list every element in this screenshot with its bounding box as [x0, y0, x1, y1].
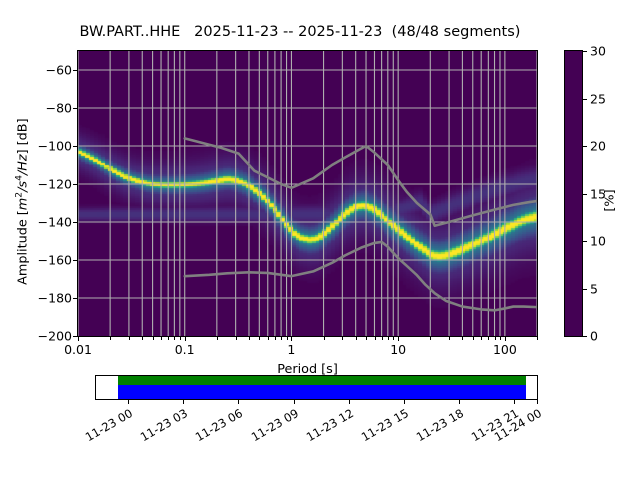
- timeline-tick-mark: [404, 400, 405, 404]
- colorbar-tick-mark: [583, 241, 587, 242]
- timeline-tick-label: 11-23 15: [352, 406, 411, 448]
- y-tick-label: −60: [12, 63, 72, 78]
- x-tick-mark: [161, 337, 162, 340]
- x-tick-mark: [180, 337, 181, 340]
- colorbar-tick-label: 5: [590, 281, 598, 296]
- x-tick-mark: [287, 337, 288, 340]
- x-tick-label: 1: [256, 342, 326, 357]
- x-tick-mark: [174, 337, 175, 340]
- colorbar-tick-label: 20: [590, 139, 606, 154]
- timeline-tick-mark: [294, 400, 295, 404]
- timeline-tick-label: 11-23 09: [242, 406, 301, 448]
- colorbar-tick-mark: [583, 99, 587, 100]
- x-tick-mark: [505, 337, 506, 341]
- colorbar-label: [%]: [603, 161, 618, 241]
- x-tick-mark: [217, 337, 218, 340]
- x-tick-label: 0.01: [43, 342, 113, 357]
- x-tick-mark: [275, 337, 276, 340]
- colorbar-tick-mark: [583, 194, 587, 195]
- x-tick-mark: [366, 337, 367, 340]
- timeline-tick-mark: [128, 400, 129, 404]
- x-tick-mark: [430, 337, 431, 340]
- x-tick-mark: [388, 337, 389, 340]
- ppsd-plot-area: [77, 50, 538, 337]
- timeline-tick-mark: [537, 400, 538, 404]
- x-tick-mark: [281, 337, 282, 340]
- x-tick-label: 100: [470, 342, 540, 357]
- x-tick-mark: [537, 337, 538, 340]
- colorbar-gradient: [565, 51, 582, 336]
- y-tick-mark: [73, 146, 77, 147]
- x-tick-mark: [500, 337, 501, 340]
- x-tick-mark: [356, 337, 357, 340]
- page-title: BW.PART..HHE 2025-11-23 -- 2025-11-23 (4…: [0, 24, 600, 40]
- y-tick-mark: [73, 336, 77, 337]
- ppsd-figure: BW.PART..HHE 2025-11-23 -- 2025-11-23 (4…: [0, 0, 640, 480]
- x-tick-mark: [259, 337, 260, 340]
- timeline-tick-mark: [238, 400, 239, 404]
- x-tick-mark: [488, 337, 489, 340]
- x-tick-mark: [249, 337, 250, 340]
- x-tick-mark: [473, 337, 474, 340]
- x-tick-mark: [236, 337, 237, 340]
- colorbar-tick-label: 25: [590, 91, 606, 106]
- timeline-tick-label: 11-23 18: [407, 406, 466, 448]
- timeline-tick-label: 11-23 06: [186, 406, 245, 448]
- y-axis-label: Amplitude [m2/s4/Hz] [dB]: [13, 92, 30, 312]
- data-coverage-bar: [118, 376, 526, 385]
- y-tick-mark: [73, 184, 77, 185]
- timeline-tick-mark: [514, 400, 515, 404]
- x-tick-mark: [291, 337, 292, 341]
- x-tick-mark: [110, 337, 111, 340]
- x-tick-mark: [324, 337, 325, 340]
- noise-model-curves: [78, 51, 537, 336]
- colorbar-tick-mark: [583, 336, 587, 337]
- x-tick-mark: [375, 337, 376, 340]
- x-tick-label: 10: [363, 342, 433, 357]
- timeline-tick-label: 11-23 12: [297, 406, 356, 448]
- y-tick-mark: [73, 222, 77, 223]
- x-tick-mark: [142, 337, 143, 340]
- timeline-tick-mark: [459, 400, 460, 404]
- x-tick-mark: [342, 337, 343, 340]
- x-tick-mark: [481, 337, 482, 340]
- timeline-tick-label: 11-23 03: [131, 406, 190, 448]
- x-tick-mark: [78, 337, 79, 341]
- timeline-tick-mark: [349, 400, 350, 404]
- y-tick-mark: [73, 298, 77, 299]
- x-tick-mark: [449, 337, 450, 340]
- x-tick-mark: [382, 337, 383, 340]
- x-tick-mark: [185, 337, 186, 341]
- colorbar-tick-mark: [583, 146, 587, 147]
- x-tick-mark: [462, 337, 463, 340]
- x-tick-mark: [268, 337, 269, 340]
- timeline-tick-mark: [183, 400, 184, 404]
- colorbar-tick-label: 0: [590, 329, 598, 344]
- x-tick-mark: [495, 337, 496, 340]
- x-tick-mark: [393, 337, 394, 340]
- psd-segments-bar: [118, 385, 526, 399]
- timeline-plot-area[interactable]: [95, 375, 538, 400]
- timeline-tick-label: 11-23 00: [76, 406, 135, 448]
- x-tick-mark: [168, 337, 169, 340]
- colorbar: [564, 50, 583, 337]
- colorbar-tick-mark: [583, 289, 587, 290]
- x-tick-mark: [129, 337, 130, 340]
- y-tick-mark: [73, 70, 77, 71]
- y-tick-mark: [73, 260, 77, 261]
- colorbar-tick-mark: [583, 51, 587, 52]
- colorbar-tick-label: 30: [590, 44, 606, 59]
- x-tick-label: 0.1: [150, 342, 220, 357]
- x-tick-mark: [153, 337, 154, 340]
- y-tick-mark: [73, 108, 77, 109]
- x-tick-mark: [398, 337, 399, 341]
